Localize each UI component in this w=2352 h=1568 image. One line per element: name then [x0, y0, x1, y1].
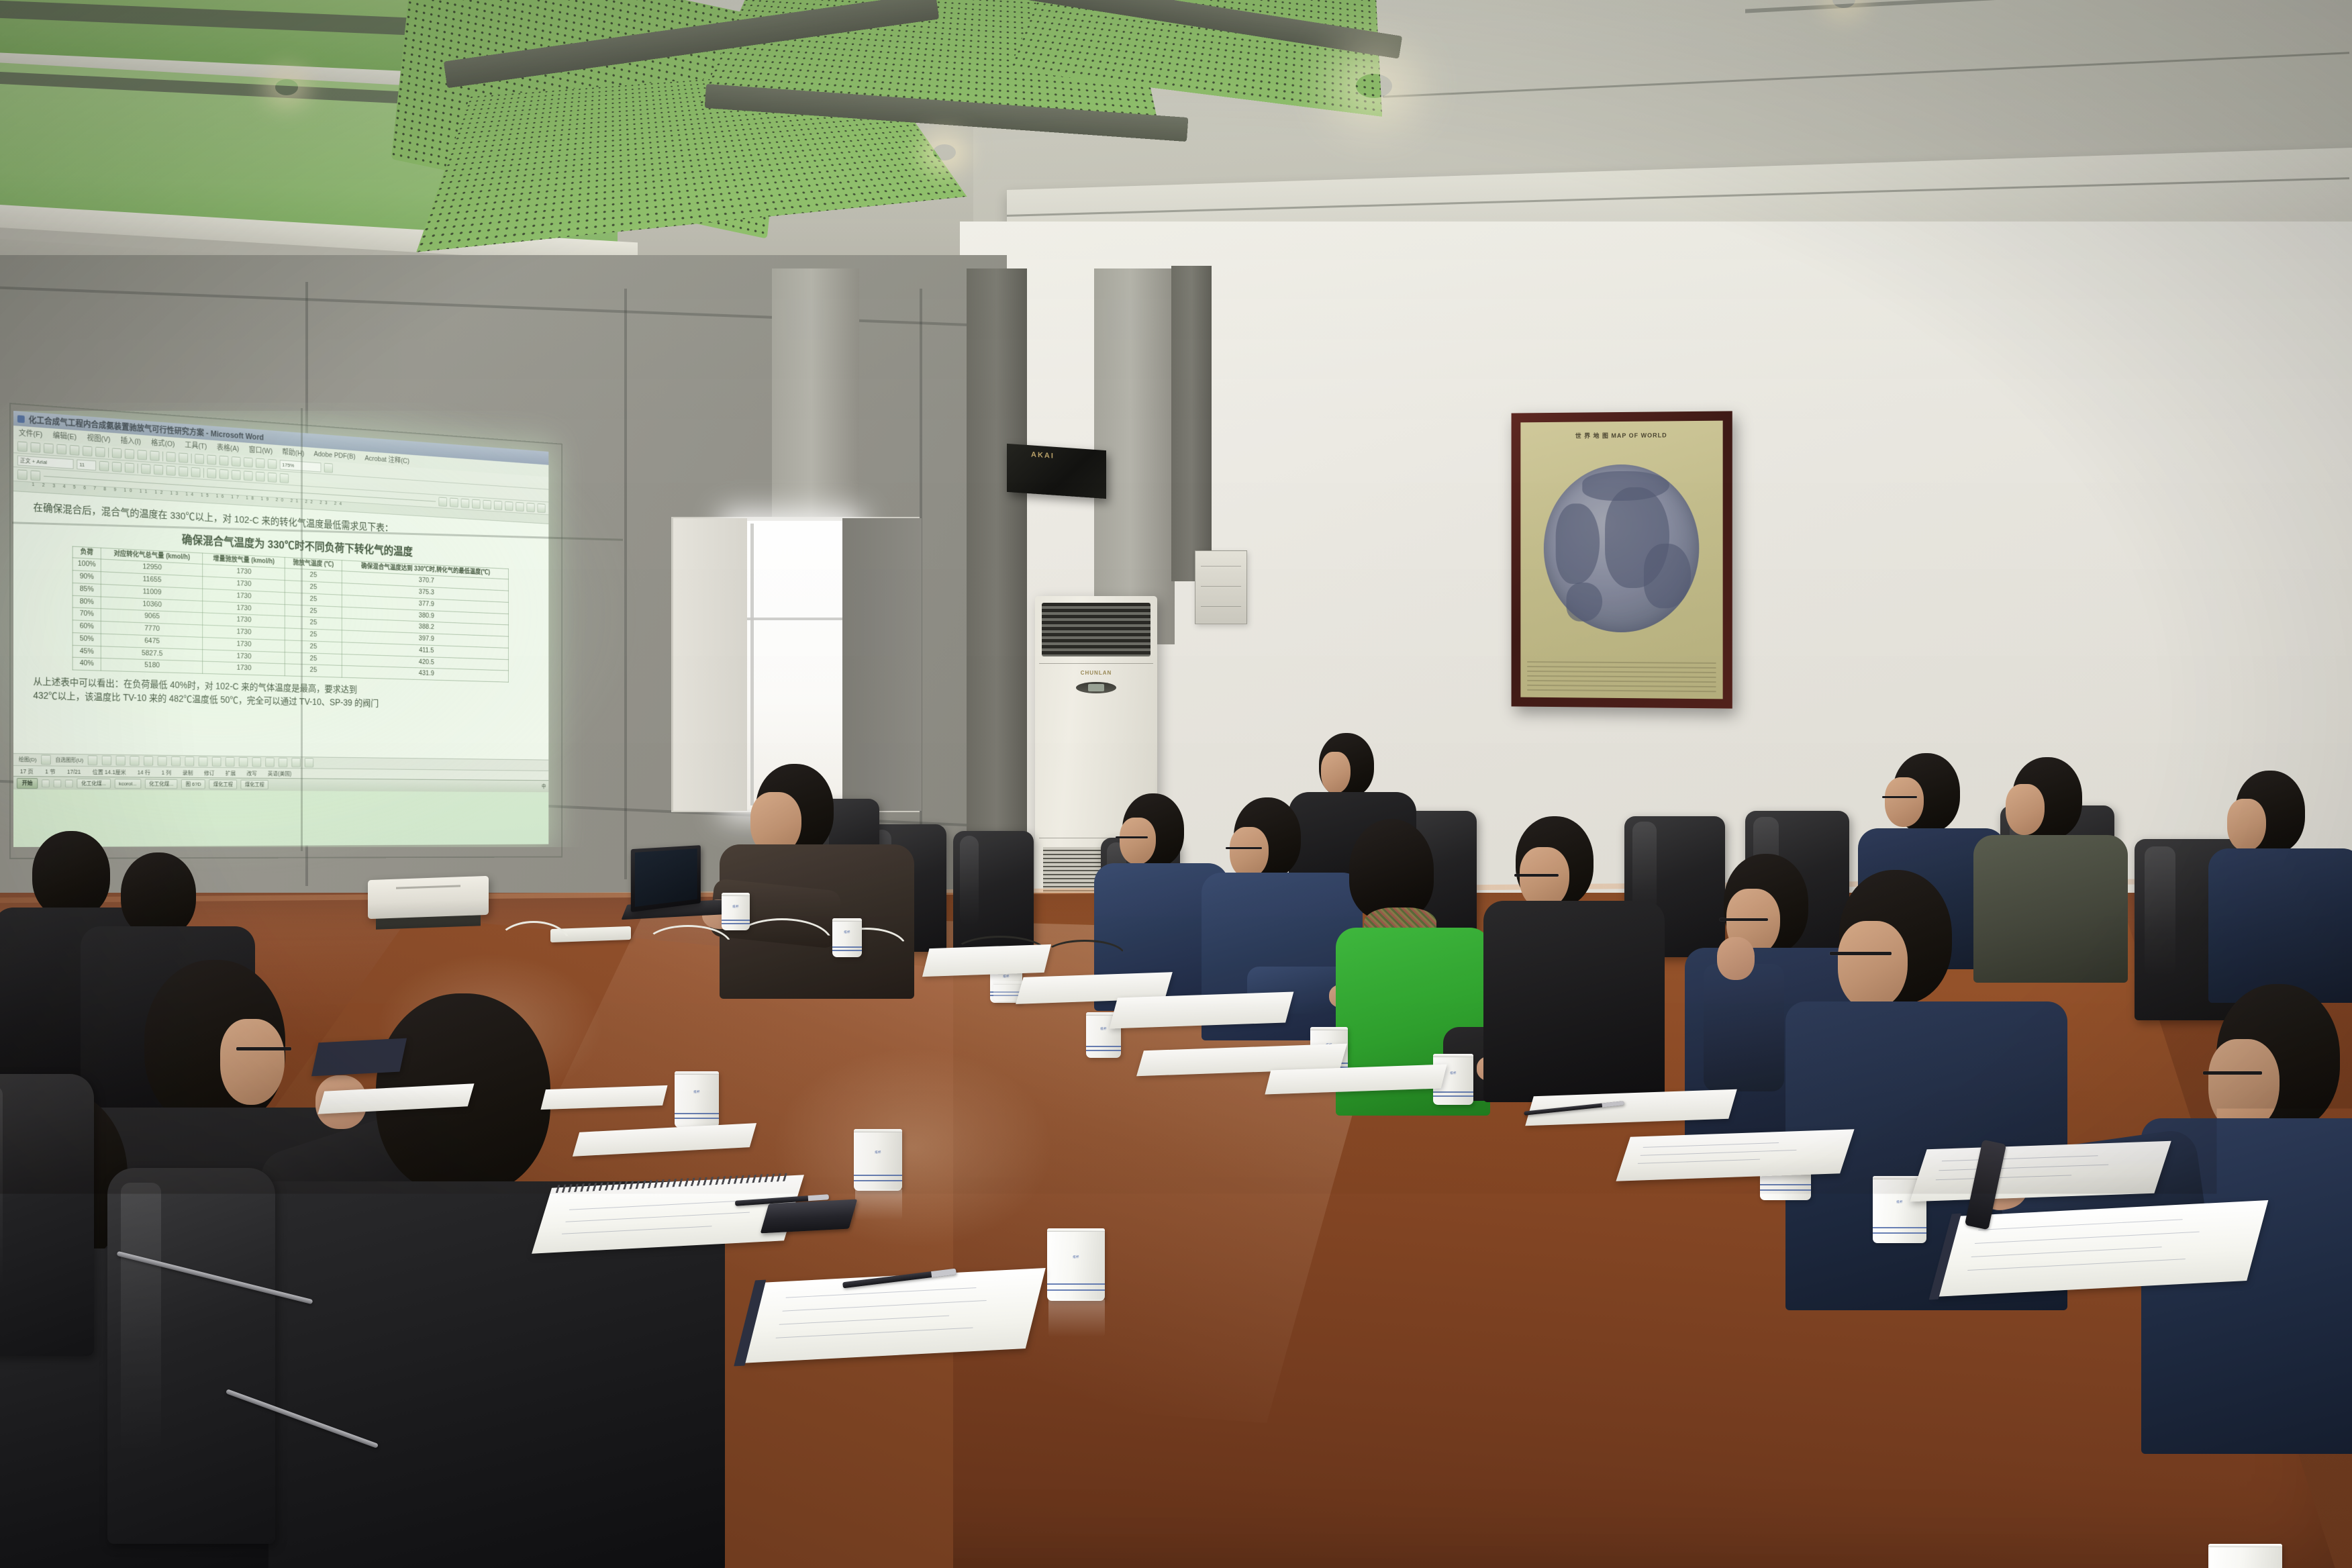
ac-display-panel[interactable] — [1076, 682, 1116, 693]
word-app-icon — [17, 415, 25, 423]
menu-insert[interactable]: 插入(I) — [121, 435, 142, 447]
textbox-icon[interactable] — [144, 756, 153, 766]
status-section: 1 节 — [45, 767, 55, 775]
taskbar-item-4[interactable]: 图 6?D — [181, 779, 205, 789]
wall-column-2 — [1094, 268, 1175, 644]
cell-total-gas: 5180 — [101, 658, 202, 674]
face — [1321, 752, 1351, 793]
laptop-display — [635, 848, 697, 907]
select-objects-icon[interactable] — [41, 754, 51, 765]
status-ext[interactable]: 扩展 — [226, 769, 236, 777]
map-title-label: 世 界 地 图 MAP OF WORLD — [1520, 430, 1722, 440]
quicklaunch-ie-icon[interactable] — [42, 779, 50, 787]
align-center-icon[interactable] — [154, 464, 163, 475]
autoshapes-label[interactable]: 自选图形(U) — [56, 756, 84, 764]
cut-icon[interactable] — [112, 448, 121, 458]
toolbar-separator-4 — [138, 463, 138, 473]
columns-icon[interactable] — [232, 456, 241, 466]
toolbar-separator-5 — [203, 468, 204, 478]
print-preview-icon[interactable] — [83, 446, 92, 456]
borders-icon[interactable] — [280, 473, 289, 483]
hand — [1717, 937, 1755, 980]
rectangle-icon[interactable] — [116, 756, 126, 766]
document-stack[interactable] — [922, 944, 1051, 977]
wall-speaker: AKAI — [1007, 444, 1106, 499]
paper-cup[interactable]: 纸杯 — [1047, 1228, 1105, 1301]
redo-icon[interactable] — [179, 452, 188, 462]
chair-left-fore-2[interactable] — [0, 1074, 94, 1356]
torso — [2208, 848, 2352, 1003]
status-trk[interactable]: 修订 — [204, 769, 215, 777]
speaker-brand-label: AKAI — [1031, 450, 1055, 460]
oval-icon[interactable] — [130, 756, 140, 766]
open-notebook[interactable] — [1616, 1129, 1854, 1181]
cell-load: 60% — [72, 620, 101, 634]
new-document-icon[interactable] — [17, 441, 28, 452]
menu-window[interactable]: 窗口(W) — [249, 444, 273, 456]
ac-top-grille — [1042, 603, 1150, 656]
ac-brand-label: CHUNLAN — [1081, 670, 1112, 676]
menu-adobe-pdf[interactable]: Adobe PDF(B) — [313, 450, 355, 461]
wordart-icon[interactable] — [158, 756, 167, 767]
cell-load: 80% — [72, 595, 101, 609]
style-combo[interactable]: 正文 + Arial — [17, 455, 74, 469]
window-blind-left[interactable] — [673, 518, 747, 811]
projector-vent — [396, 885, 460, 889]
closed-notebook[interactable] — [311, 1038, 407, 1077]
insert-excel-icon[interactable] — [219, 455, 229, 465]
status-language[interactable]: 英语(美国) — [268, 769, 291, 777]
map-print: 世 界 地 图 MAP OF WORLD — [1520, 421, 1722, 699]
chair-left-fore-1[interactable] — [107, 1168, 275, 1544]
cell-load: 40% — [72, 657, 101, 671]
increase-indent-icon[interactable] — [244, 471, 252, 481]
status-page-of: 17/21 — [67, 768, 81, 775]
font-color-icon[interactable] — [268, 472, 277, 482]
mobile-phone[interactable] — [761, 1199, 858, 1234]
shading-color-icon[interactable] — [450, 497, 458, 507]
eyeglasses — [1882, 796, 1917, 798]
taskbar-item-1[interactable]: 化工化煤... — [77, 779, 110, 789]
screen-panel-seam-vertical — [301, 408, 303, 851]
cup-label: 纸杯 — [832, 930, 862, 934]
torso — [1973, 835, 2128, 983]
email-icon[interactable] — [56, 444, 66, 454]
align-left-icon[interactable] — [141, 463, 150, 474]
eyeglasses — [2203, 1071, 2262, 1075]
projected-word-document: 化工合成气工程内合成氨装置驰放气可行性研究方案 - Microsoft Word… — [13, 411, 548, 847]
arrow-icon[interactable] — [102, 756, 111, 766]
eyeglasses — [1116, 836, 1148, 838]
draw-table-icon[interactable] — [17, 469, 28, 480]
cup-label: 纸杯 — [675, 1090, 719, 1094]
head — [32, 831, 110, 918]
face — [2006, 784, 2045, 835]
status-position: 位置 14.1厘米 — [93, 768, 126, 776]
open-folder-icon[interactable] — [31, 442, 41, 452]
ceiling-downlight-1 — [275, 79, 298, 95]
cup-label: 纸杯 — [1047, 1255, 1105, 1259]
paper-cup[interactable]: 纸杯 — [854, 1129, 902, 1191]
status-column: 1 列 — [162, 769, 171, 777]
bulleted-list-icon[interactable] — [219, 469, 229, 479]
paste-icon[interactable] — [138, 450, 147, 460]
cell-load: 50% — [72, 632, 101, 646]
col-header-load: 负荷 — [72, 546, 101, 559]
tray-ime-indicator[interactable]: 中 — [542, 783, 546, 790]
menu-table[interactable]: 表格(A) — [217, 442, 239, 454]
status-ovr[interactable]: 改写 — [247, 769, 257, 777]
map-legend-lines — [1527, 661, 1716, 692]
split-cells-icon[interactable] — [472, 499, 480, 508]
status-page: 17 页 — [20, 767, 34, 775]
cell-load: 90% — [72, 571, 101, 584]
taskbar-item-2[interactable]: kcorol... — [114, 779, 141, 789]
distribute-rows-icon[interactable] — [494, 500, 502, 509]
status-line: 14 行 — [138, 768, 150, 776]
arrow-style-icon[interactable] — [279, 758, 287, 767]
cell-load: 100% — [72, 558, 101, 572]
eraser-icon[interactable] — [31, 470, 41, 481]
line-color-icon[interactable] — [226, 757, 235, 767]
wall-column-3 — [1171, 266, 1212, 581]
line-icon[interactable] — [88, 755, 97, 765]
decrease-indent-icon[interactable] — [232, 470, 241, 480]
fill-color-icon[interactable] — [212, 757, 222, 767]
table-autoformat-icon[interactable] — [505, 501, 513, 510]
wall-control-box[interactable] — [1195, 550, 1247, 624]
toolbar-separator-3 — [191, 453, 192, 463]
menu-view[interactable]: 视图(V) — [87, 432, 110, 444]
taskbar-item-3[interactable]: 化工化煤... — [145, 779, 178, 789]
autosum-icon[interactable] — [538, 503, 546, 513]
open-notebook[interactable] — [1910, 1141, 2171, 1202]
arm — [1704, 964, 1784, 1091]
cell-load: 85% — [72, 583, 101, 596]
font-size-combo[interactable]: 11 — [77, 459, 96, 471]
underline-icon[interactable] — [125, 462, 134, 473]
table-body: 100%12950173025370.7 90%11655173025375.3… — [72, 558, 508, 682]
projection-screen: 化工合成气工程内合成氨装置驰放气可行性研究方案 - Microsoft Word… — [13, 411, 618, 847]
sort-asc-icon[interactable] — [516, 502, 524, 511]
reading-document[interactable] — [1110, 991, 1294, 1028]
status-rec[interactable]: 录制 — [183, 769, 193, 777]
paper-cup[interactable]: 纸杯 — [832, 918, 862, 957]
face — [1230, 827, 1269, 878]
align-right-icon[interactable] — [166, 465, 176, 475]
start-button[interactable]: 开始 — [17, 778, 38, 789]
window-mullion-h — [735, 618, 849, 620]
conference-room-scene: 化工合成气工程内合成氨装置驰放气可行性研究方案 - Microsoft Word… — [0, 0, 2352, 1568]
bold-icon[interactable] — [99, 460, 109, 471]
clipart-icon[interactable] — [185, 756, 195, 767]
help-icon[interactable] — [324, 462, 333, 473]
cell-purge-gas: 1730 — [202, 661, 285, 676]
show-formatting-icon[interactable] — [268, 458, 277, 469]
eyeglasses — [1514, 874, 1559, 877]
taskbar-item-5[interactable]: 煤化工程 — [209, 779, 237, 789]
face — [1520, 847, 1569, 909]
word-document-body[interactable]: 在确保混合后，混合气的温度在 330℃以上，对 102-C 来的转化气温度最低需… — [13, 491, 548, 760]
menu-acrobat-comments[interactable]: Acrobat 注释(C) — [364, 452, 409, 466]
line-spacing-icon[interactable] — [191, 467, 201, 477]
sort-desc-icon[interactable] — [526, 503, 534, 512]
paper-cup[interactable] — [2208, 1544, 2282, 1568]
ceiling-downlight-2 — [1356, 74, 1392, 98]
justify-icon[interactable] — [179, 466, 188, 476]
cell-purge-temp: 25 — [285, 664, 342, 677]
drawing-menu-label[interactable]: 绘图(D) — [19, 756, 37, 763]
window-mullion-v — [750, 524, 754, 805]
highlight-icon[interactable] — [256, 471, 264, 481]
italic-icon[interactable] — [112, 462, 121, 473]
ceiling-downlight-3 — [933, 144, 956, 160]
face — [2227, 799, 2266, 851]
torso — [1483, 901, 1665, 1102]
window-blind-right[interactable] — [842, 518, 922, 811]
quicklaunch-media-icon[interactable] — [65, 779, 73, 787]
face — [1838, 921, 1908, 1010]
cup-label: 纸杯 — [722, 905, 750, 909]
eyeglasses — [1830, 952, 1892, 955]
quicklaunch-desktop-icon[interactable] — [54, 779, 62, 787]
taskbar-item-6[interactable]: 煤化工程 — [241, 780, 268, 790]
undo-icon[interactable] — [166, 452, 176, 462]
menu-tools[interactable]: 工具(T) — [185, 440, 207, 452]
cup-label: 纸杯 — [854, 1150, 902, 1155]
line-style-draw-icon[interactable] — [252, 757, 261, 767]
ac-display-screen — [1088, 684, 1104, 691]
projector[interactable] — [368, 876, 489, 919]
document-map-icon[interactable] — [256, 458, 264, 468]
menu-edit[interactable]: 编辑(E) — [53, 430, 77, 442]
line-style-icon[interactable] — [438, 497, 446, 507]
cell-load: 45% — [72, 645, 101, 658]
insert-hyperlink-icon[interactable] — [195, 454, 204, 464]
picture-icon[interactable] — [199, 756, 208, 767]
toolbar-separator-2 — [162, 451, 163, 461]
open-notebook[interactable] — [740, 1268, 1045, 1363]
wall-seam-v2 — [624, 289, 627, 879]
align-cell-icon[interactable] — [483, 499, 491, 509]
format-painter-icon[interactable] — [150, 450, 159, 461]
dash-style-icon[interactable] — [265, 757, 274, 767]
power-strip — [550, 926, 631, 942]
face — [220, 1019, 285, 1105]
cup-label: 纸杯 — [990, 975, 1022, 979]
copy-icon[interactable] — [125, 448, 134, 459]
print-icon[interactable] — [70, 444, 79, 455]
head — [121, 852, 196, 937]
eyeglasses — [1720, 918, 1768, 921]
shadow-style-icon[interactable] — [292, 758, 301, 767]
laptop-screen[interactable] — [631, 845, 701, 912]
spellcheck-icon[interactable] — [95, 446, 105, 457]
eyeglasses — [1226, 847, 1262, 849]
face — [1885, 777, 1924, 827]
eyeglasses — [236, 1047, 291, 1050]
drawing-icon[interactable] — [244, 457, 252, 467]
toolbar-separator-1 — [108, 447, 109, 457]
paper-cup[interactable]: 纸杯 — [675, 1071, 719, 1128]
font-color-draw-icon[interactable] — [239, 757, 248, 767]
framed-world-map: 世 界 地 图 MAP OF WORLD — [1512, 411, 1732, 708]
paper-cup[interactable]: 纸杯 — [722, 893, 750, 930]
diagram-icon[interactable] — [171, 756, 181, 767]
face — [1120, 818, 1156, 865]
globe-graphic — [1544, 464, 1699, 632]
menu-file[interactable]: 文件(F) — [19, 428, 42, 440]
insert-table-icon[interactable] — [207, 454, 217, 464]
save-icon[interactable] — [44, 443, 54, 454]
cell-load: 70% — [72, 607, 101, 621]
hair — [1349, 819, 1434, 920]
3d-style-icon[interactable] — [305, 758, 313, 767]
menu-format[interactable]: 格式(O) — [151, 437, 175, 449]
merge-cells-icon[interactable] — [461, 498, 469, 508]
numbered-list-icon[interactable] — [207, 468, 217, 478]
load-temperature-table: 负荷 对应转化气总气量 (kmol/h) 增量驰放气量 (kmol/h) 驰放气… — [72, 546, 509, 682]
